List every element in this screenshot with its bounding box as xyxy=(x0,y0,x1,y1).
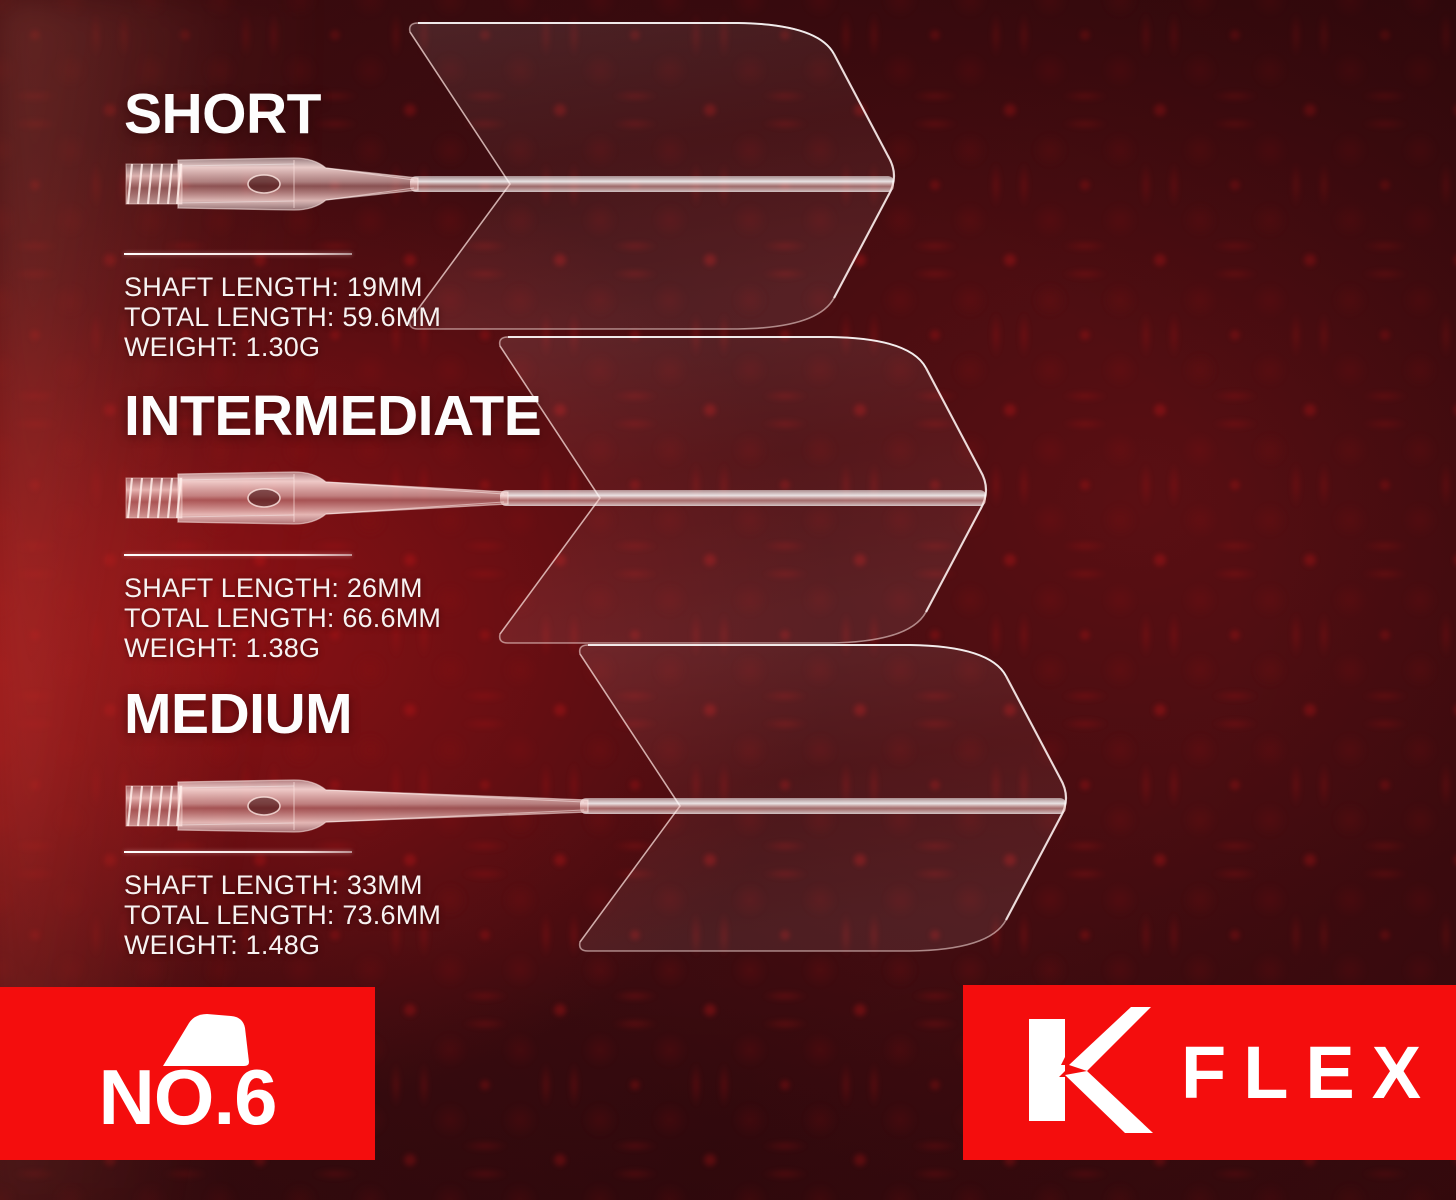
spec-total-length-intermediate: TOTAL LENGTH: 66.6MM xyxy=(124,603,441,633)
product-infographic: SHORT SHAFT LENGTH: 19MM TOTAL LENGTH: 5… xyxy=(0,0,1456,1200)
variant-heading-intermediate: INTERMEDIATE xyxy=(124,388,541,445)
kflex-lockup: FLEX xyxy=(963,1005,1438,1140)
variant-specs-short: SHAFT LENGTH: 19MM TOTAL LENGTH: 59.6MM … xyxy=(124,272,441,362)
spec-shaft-length-short: SHAFT LENGTH: 19MM xyxy=(124,272,441,302)
variant-block-short: SHORT xyxy=(124,86,321,143)
kflex-wordmark: FLEX xyxy=(1177,1036,1438,1110)
variant-block-intermediate: INTERMEDIATE xyxy=(124,388,541,445)
variant-heading-short: SHORT xyxy=(124,86,321,143)
k-mark-icon xyxy=(1025,1005,1153,1140)
divider-short xyxy=(124,253,352,255)
variant-block-medium: MEDIUM xyxy=(124,686,352,743)
variant-specs-intermediate: SHAFT LENGTH: 26MM TOTAL LENGTH: 66.6MM … xyxy=(124,573,441,663)
kflex-logo-bar: FLEX xyxy=(963,985,1456,1160)
spec-total-length-medium: TOTAL LENGTH: 73.6MM xyxy=(124,900,441,930)
spec-weight-short: WEIGHT: 1.30G xyxy=(124,332,441,362)
spec-shaft-length-intermediate: SHAFT LENGTH: 26MM xyxy=(124,573,441,603)
spec-weight-intermediate: WEIGHT: 1.38G xyxy=(124,633,441,663)
divider-intermediate xyxy=(124,554,352,556)
variant-specs-medium: SHAFT LENGTH: 33MM TOTAL LENGTH: 73.6MM … xyxy=(124,870,441,960)
no6-wordmark: NO.6 xyxy=(53,1058,323,1136)
spec-weight-medium: WEIGHT: 1.48G xyxy=(124,930,441,960)
no6-logo-bar: NO.6 xyxy=(0,987,375,1160)
spec-total-length-short: TOTAL LENGTH: 59.6MM xyxy=(124,302,441,332)
divider-medium xyxy=(124,851,352,853)
variant-heading-medium: MEDIUM xyxy=(124,686,352,743)
no6-lockup: NO.6 xyxy=(53,1008,323,1140)
spec-shaft-length-medium: SHAFT LENGTH: 33MM xyxy=(124,870,441,900)
